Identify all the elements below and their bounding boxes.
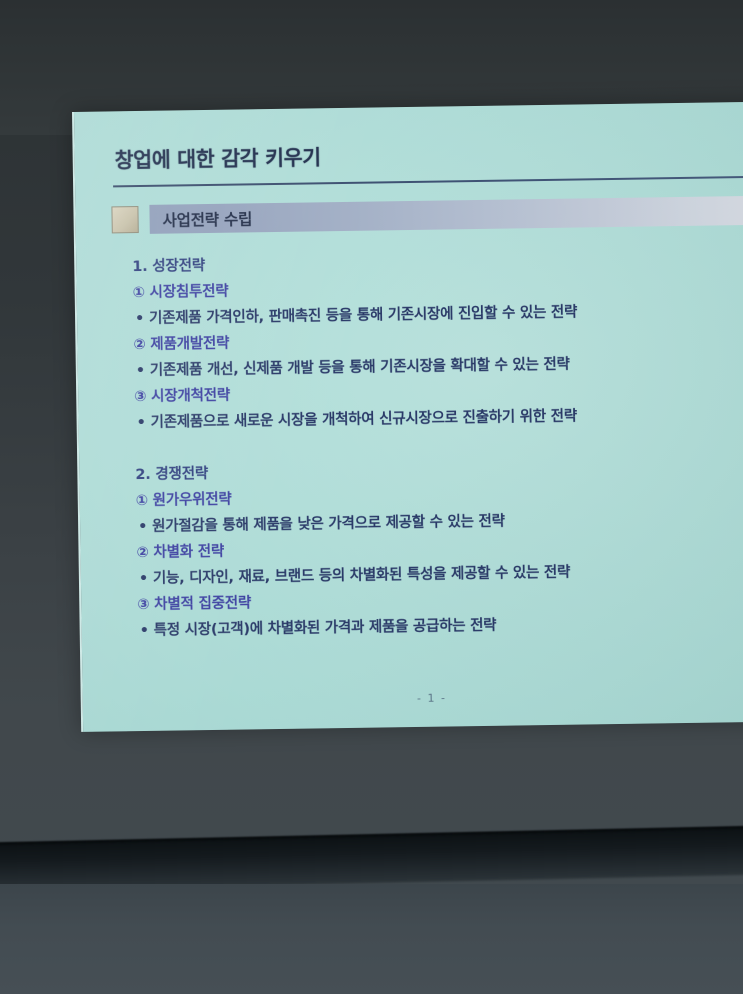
strategy-label: ③ 차별적 집중전략 (137, 589, 743, 613)
strategy-description: •기능, 디자인, 재료, 브랜드 등의 차별화된 특성을 제공할 수 있는 전… (137, 563, 743, 587)
bullet-dot-icon: • (136, 363, 145, 379)
wall-lower (0, 884, 743, 994)
strategy-description: •특정 시장(고객)에 차별화된 가격과 제품을 공급하는 전략 (138, 615, 743, 639)
bullet-dot-icon: • (135, 311, 144, 327)
slide-content: 창업에 대한 감각 키우기 사업전략 수립 1. 성장전략 ① 시장침투전략 •… (74, 102, 743, 732)
presentation-slide: 창업에 대한 감각 키우기 사업전략 수립 1. 성장전략 ① 시장침투전략 •… (72, 102, 743, 732)
strategy-label: ① 시장침투전략 (133, 277, 743, 301)
strategy-description-text: 기존제품 가격인하, 판매촉진 등을 통해 기존시장에 진입할 수 있는 전략 (149, 305, 577, 327)
strategy-label: ① 원가우위전략 (136, 485, 743, 509)
strategy-description: •기존제품 가격인하, 판매촉진 등을 통해 기존시장에 진입할 수 있는 전략 (133, 303, 743, 327)
strategy-label: ② 제품개발전략 (133, 329, 743, 353)
page-number: - 1 - (83, 687, 743, 710)
strategy-description-text: 기존제품으로 새로운 시장을 개척하여 신규시장으로 진출하기 위한 전략 (151, 409, 577, 431)
bullet-dot-icon: • (139, 571, 148, 587)
strategy-description-text: 특정 시장(고객)에 차별화된 가격과 제품을 공급하는 전략 (154, 618, 497, 639)
subhead-bar: 사업전략 수립 (149, 196, 743, 234)
slide-title: 창업에 대한 감각 키우기 (114, 134, 743, 173)
subhead-row: 사업전략 수립 (111, 196, 743, 234)
strategy-description-text: 원가절감을 통해 제품을 낮은 가격으로 제공할 수 있는 전략 (152, 514, 505, 535)
slide-body: 1. 성장전략 ① 시장침투전략 •기존제품 가격인하, 판매촉진 등을 통해 … (132, 251, 743, 639)
strategy-description-text: 기능, 디자인, 재료, 브랜드 등의 차별화된 특성을 제공할 수 있는 전략 (153, 565, 570, 587)
subhead-square-icon (111, 206, 138, 233)
title-divider (113, 176, 743, 187)
strategy-description: •원가절감을 통해 제품을 낮은 가격으로 제공할 수 있는 전략 (136, 511, 743, 535)
strategy-description: •기존제품으로 새로운 시장을 개척하여 신규시장으로 진출하기 위한 전략 (135, 407, 743, 431)
strategy-description-text: 기존제품 개선, 신제품 개발 등을 통해 기존시장을 확대할 수 있는 전략 (150, 357, 570, 379)
strategy-label: ② 차별화 전략 (136, 537, 743, 561)
bullet-dot-icon: • (140, 623, 149, 639)
projection-screen: 창업에 대한 감각 키우기 사업전략 수립 1. 성장전략 ① 시장침투전략 •… (72, 102, 743, 732)
strategy-label: ③ 시장개척전략 (134, 381, 743, 405)
bullet-dot-icon: • (138, 519, 147, 535)
section-heading: 1. 성장전략 (132, 251, 743, 275)
screen-bottom-edge-shadow (0, 828, 743, 892)
strategy-description: •기존제품 개선, 신제품 개발 등을 통해 기존시장을 확대할 수 있는 전략 (134, 355, 743, 379)
bullet-dot-icon: • (137, 415, 146, 431)
subhead-label: 사업전략 수립 (162, 207, 252, 230)
